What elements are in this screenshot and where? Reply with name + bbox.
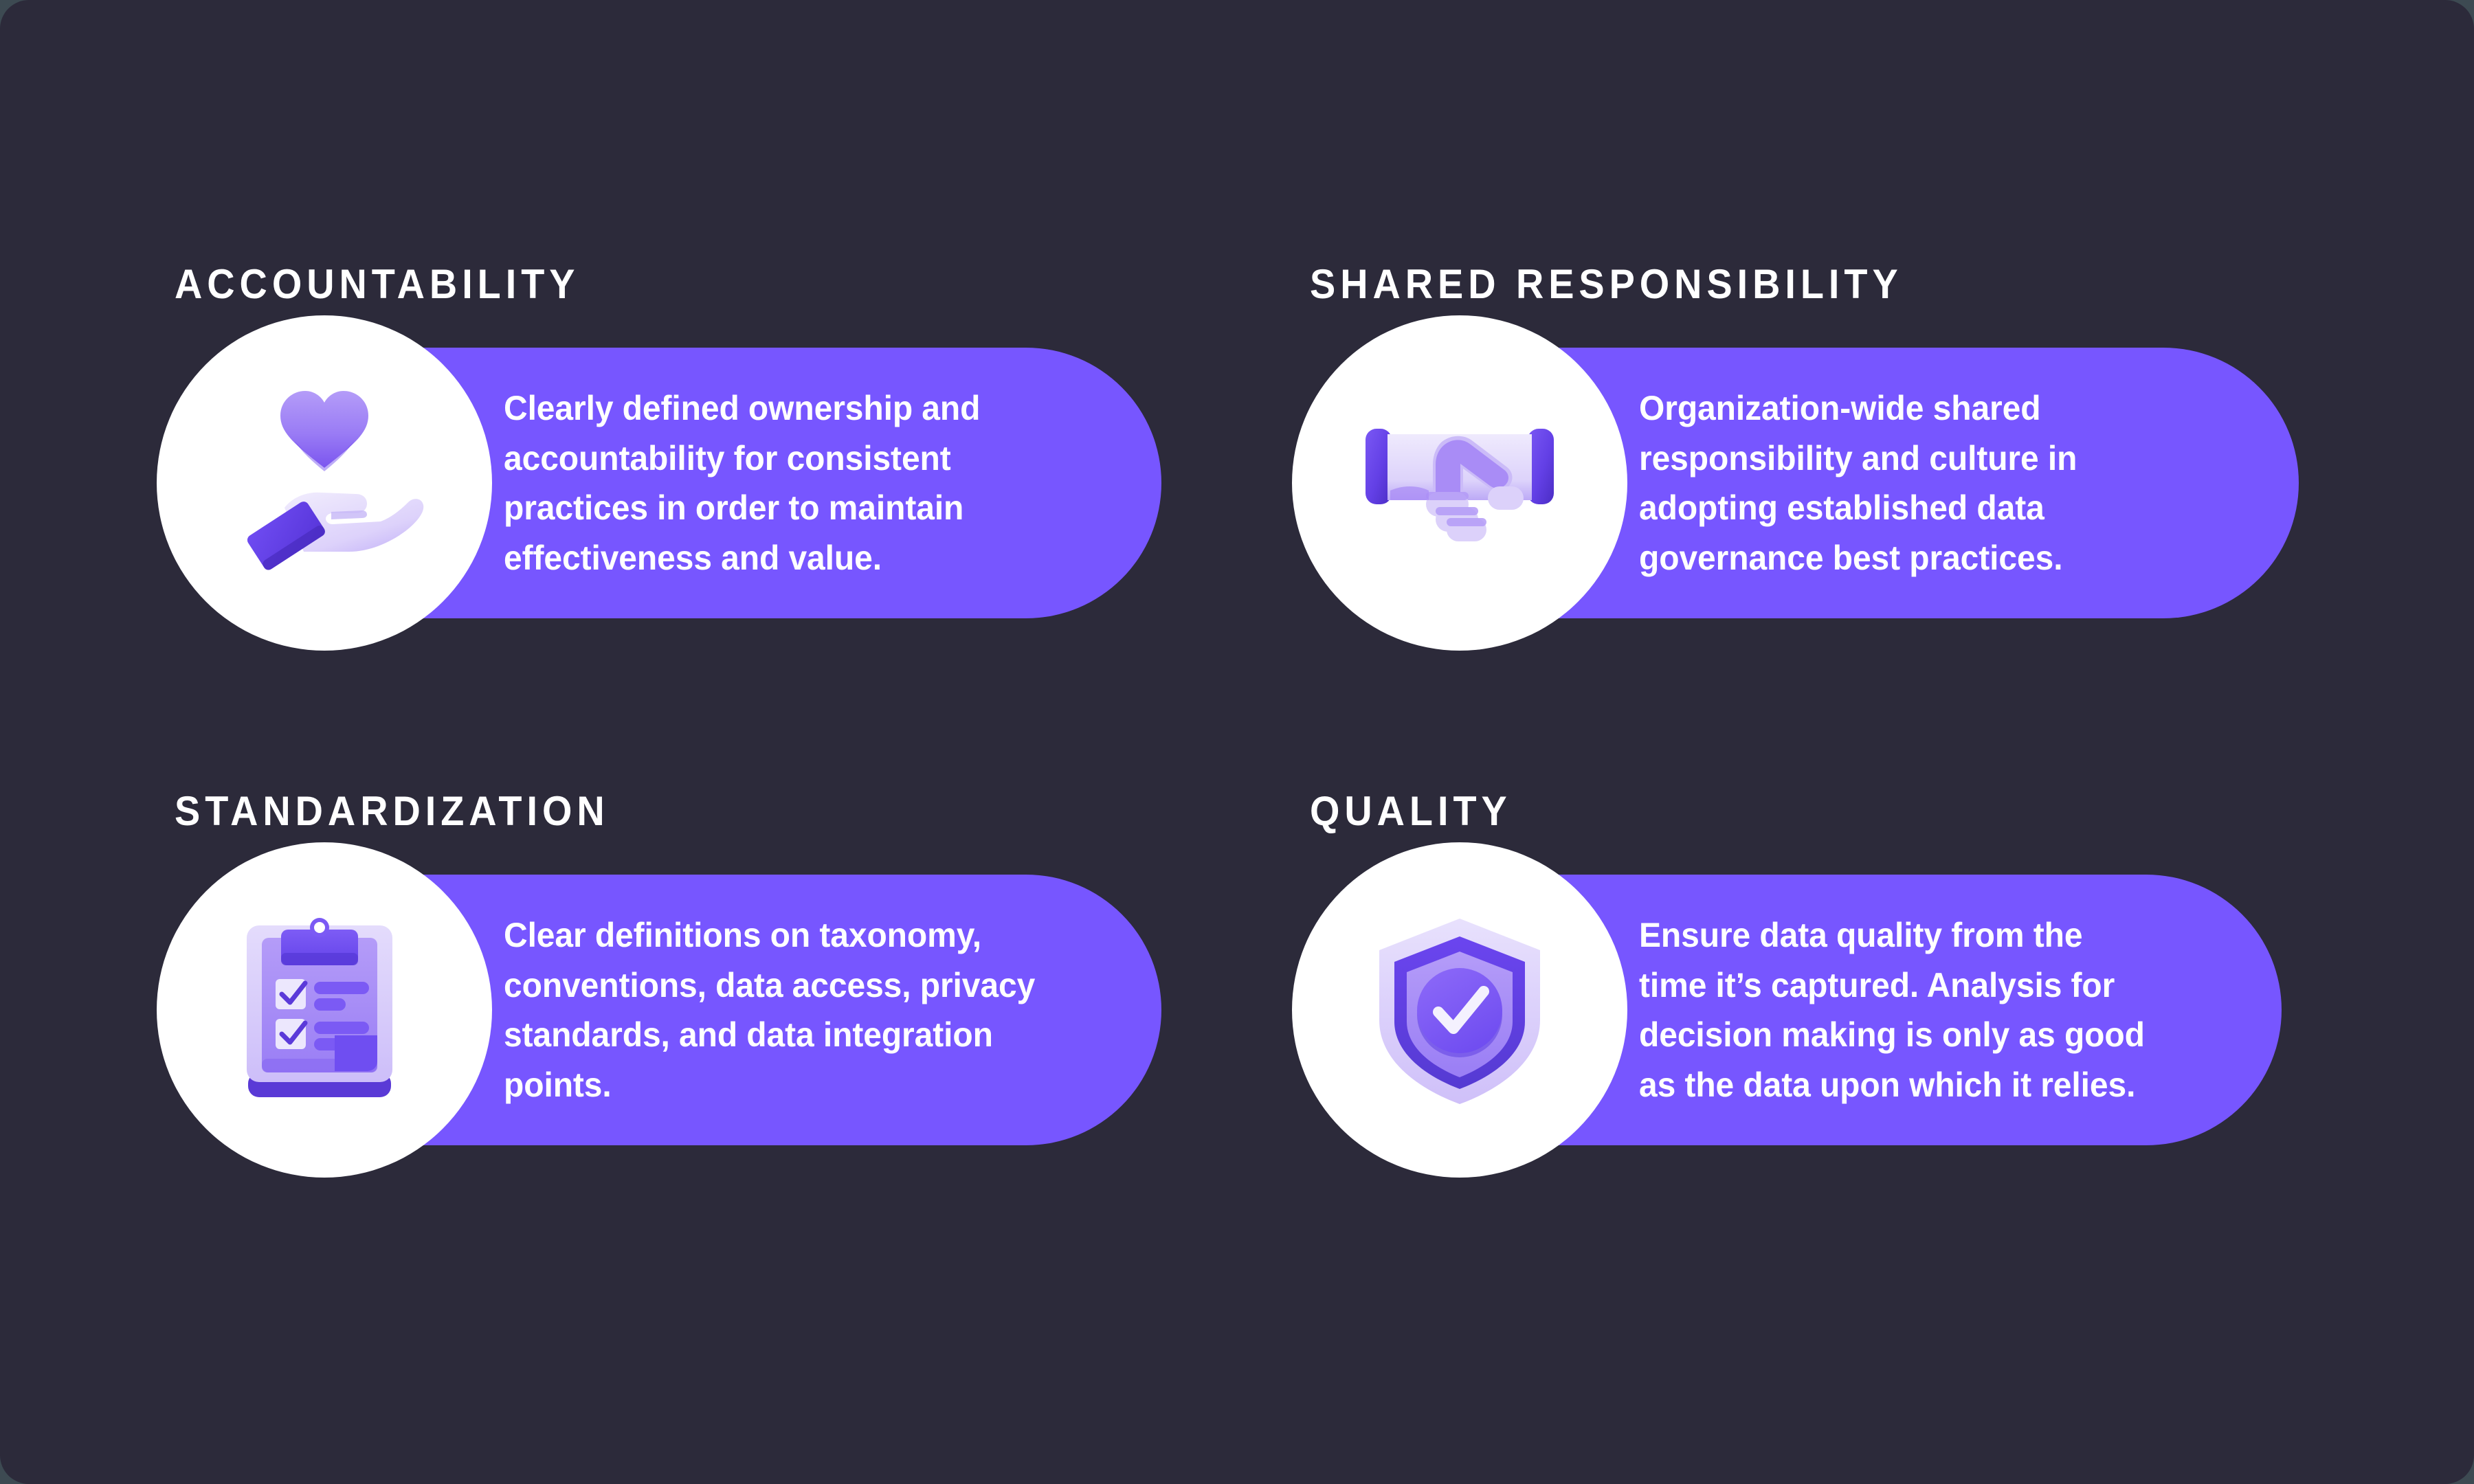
pill-wrapper-accountability: Clearly defined ownership and accountabi…: [170, 348, 610, 618]
principles-grid: ACCOUNTABILITY Clearly defined ownership…: [0, 0, 2474, 1484]
card-accountability: ACCOUNTABILITY Clearly defined ownership…: [170, 264, 610, 618]
card-shared-responsibility: SHARED RESPONSIBILITY Organization-wide …: [1306, 264, 1948, 618]
icon-circle-accountability: [157, 315, 492, 651]
card-title-shared-responsibility: SHARED RESPONSIBILITY: [1310, 264, 1903, 305]
shield-check-icon: [1367, 910, 1552, 1110]
card-quality: QUALITY Ensure data quality from the tim…: [1306, 791, 1527, 1145]
card-body-standardization: Clear definitions on taxonomy, conventio…: [504, 910, 1035, 1110]
icon-circle-standardization: [157, 842, 492, 1178]
handshake-icon: [1360, 404, 1559, 562]
icon-circle-quality: [1292, 842, 1627, 1178]
infographic-canvas: ACCOUNTABILITY Clearly defined ownership…: [0, 0, 2474, 1484]
pill-wrapper-quality: Ensure data quality from the time it’s c…: [1306, 875, 1527, 1145]
heart-in-hand-icon: [221, 380, 427, 586]
icon-circle-shared-responsibility: [1292, 315, 1627, 651]
card-title-quality: QUALITY: [1310, 791, 1512, 832]
card-title-accountability: ACCOUNTABILITY: [175, 264, 579, 305]
card-standardization: STANDARDIZATION Clear definitions on tax…: [170, 791, 642, 1145]
card-body-shared-responsibility: Organization-wide shared responsibility …: [1639, 383, 2077, 583]
pill-wrapper-standardization: Clear definitions on taxonomy, conventio…: [170, 875, 642, 1145]
card-body-quality: Ensure data quality from the time it’s c…: [1639, 910, 2145, 1110]
card-body-accountability: Clearly defined ownership and accountabi…: [504, 383, 980, 583]
clipboard-checklist-icon: [238, 910, 410, 1110]
pill-wrapper-shared-responsibility: Organization-wide shared responsibility …: [1306, 348, 1948, 618]
card-title-standardization: STANDARDIZATION: [175, 791, 610, 832]
